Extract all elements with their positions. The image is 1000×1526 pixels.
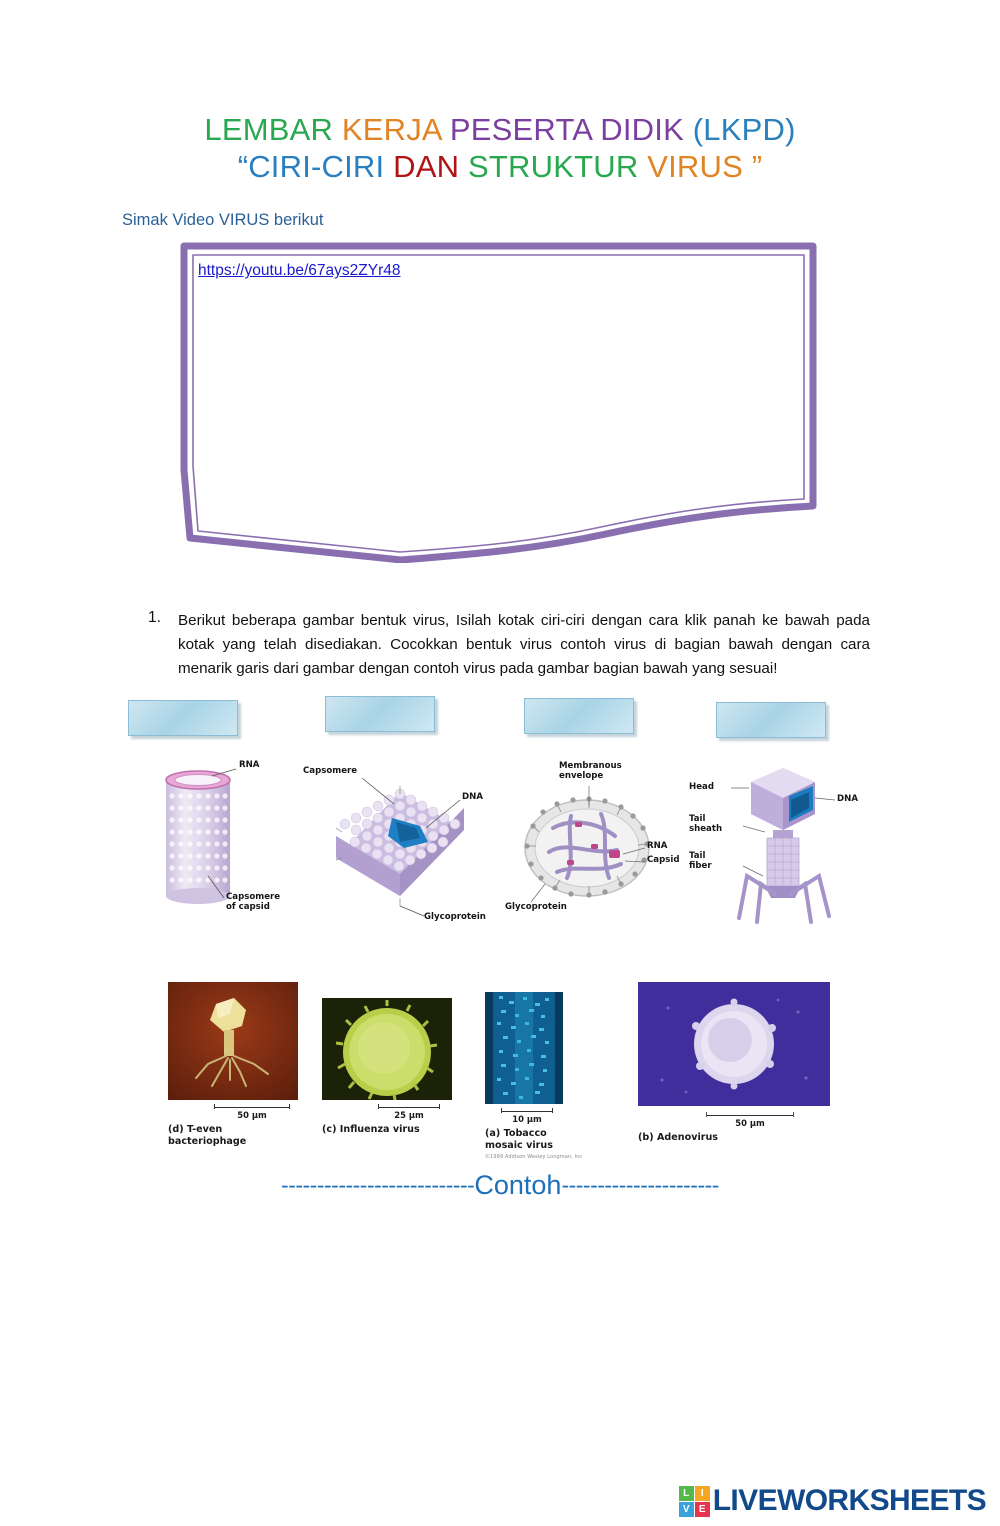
- dropdown-answer-row: [0, 696, 1000, 742]
- logo-letter-e: E: [695, 1502, 710, 1517]
- scale-label: 50 µm: [237, 1110, 266, 1120]
- micrograph-t-even-bacteriophage[interactable]: 50 µm (d) T-even bacteriophage: [168, 982, 298, 1147]
- dropdown-3[interactable]: [524, 698, 634, 734]
- diagram-label-dna: DNA: [837, 794, 858, 804]
- title-line-2: “CIRI-CIRI DAN STRUKTUR VIRUS ”: [0, 149, 1000, 186]
- title-line-1: LEMBAR KERJA PESERTA DIDIK (LKPD): [0, 112, 1000, 149]
- diagram-label-head: Head: [689, 782, 714, 792]
- scale-bar-50um: 50 µm: [706, 1112, 794, 1128]
- scale-bar-25um: 25 µm: [378, 1104, 440, 1120]
- t-even-bacteriophage-image: [168, 982, 298, 1100]
- title-word-lkpd: (LKPD): [693, 112, 796, 147]
- title-word-virus: VIRUS ”: [647, 149, 762, 184]
- scale-bar-10um: 10 µm: [501, 1108, 553, 1124]
- divider-dashes-right: ----------------------: [561, 1172, 719, 1199]
- icosahedral-virus-diagram: Capsomere DNA Glycoprotein: [300, 756, 500, 931]
- scale-label: 10 µm: [512, 1114, 541, 1124]
- title-word-lembar: LEMBAR: [204, 112, 342, 147]
- divider-label: Contoh: [474, 1170, 561, 1201]
- page-title: LEMBAR KERJA PESERTA DIDIK (LKPD) “CIRI-…: [0, 112, 1000, 185]
- diagram-label-rna: RNA: [239, 760, 259, 770]
- helical-virus-diagram: RNA Capsomere of capsid: [150, 756, 320, 931]
- micrograph-caption: (c) Influenza virus: [322, 1124, 452, 1136]
- micrograph-caption: (d) T-even bacteriophage: [168, 1124, 298, 1147]
- diagram-label-glycoprotein: Glycoprotein: [424, 912, 486, 922]
- title-word-kerja: KERJA: [342, 112, 450, 147]
- micrograph-copyright: ©1999 Addison Wesley Longman, Inc: [485, 1154, 582, 1160]
- logo-letter-l: L: [679, 1486, 694, 1501]
- diagram-label-dna: DNA: [462, 792, 483, 802]
- diagram-label-tail-fiber: Tail fiber: [689, 851, 712, 871]
- logo-letter-i: I: [695, 1486, 710, 1501]
- scale-label: 50 µm: [735, 1118, 764, 1128]
- diagram-label-capsomere: Capsomere: [303, 766, 357, 776]
- virus-structure-diagrams: RNA Capsomere of capsid: [0, 756, 1000, 934]
- bacteriophage-art: [705, 756, 875, 931]
- contoh-divider: --------------------------- Contoh -----…: [0, 1170, 1000, 1201]
- liveworksheets-brand-text: LIVEWORKSHEETS: [713, 1484, 986, 1518]
- dropdown-1[interactable]: [128, 700, 238, 736]
- enveloped-virus-diagram: Membranous envelope RNA Capsid Glycoprot…: [505, 756, 700, 931]
- scale-bar-50um: 50 µm: [214, 1104, 290, 1120]
- dropdown-4[interactable]: [716, 702, 826, 738]
- bacteriophage-diagram: Head Tail sheath Tail fiber DNA: [705, 756, 875, 931]
- video-link[interactable]: https://youtu.be/67ays2ZYr48: [198, 262, 400, 280]
- question-text: Berikut beberapa gambar bentuk virus, Is…: [178, 609, 870, 680]
- micrograph-caption: (a) Tobacco mosaic virus: [485, 1128, 582, 1151]
- virus-micrograph-examples: 50 µm (d) T-even bacteriophage 25 µm: [0, 976, 1000, 1156]
- title-word-peserta-didik: PESERTA DIDIK: [450, 112, 693, 147]
- scale-label: 25 µm: [394, 1110, 423, 1120]
- influenza-virus-image: [322, 998, 452, 1100]
- diagram-label-capsid: Capsid: [647, 855, 679, 865]
- logo-letter-v: V: [679, 1502, 694, 1517]
- diagram-label-rna: RNA: [647, 841, 667, 851]
- liveworksheets-logo[interactable]: L I V E LIVEWORKSHEETS: [679, 1484, 986, 1518]
- title-word-dan: DAN: [393, 149, 468, 184]
- question-number: 1.: [148, 609, 178, 680]
- icosahedral-virus-art: [300, 756, 500, 931]
- title-word-struktur: STRUKTUR: [468, 149, 647, 184]
- diagram-label-glycoprotein: Glycoprotein: [505, 902, 567, 912]
- liveworksheets-logo-icon: L I V E: [679, 1486, 710, 1517]
- micrograph-caption: (b) Adenovirus: [638, 1132, 830, 1144]
- divider-dashes-left: ---------------------------: [281, 1172, 474, 1199]
- tobacco-mosaic-virus-image: [485, 992, 563, 1104]
- video-instruction-label: Simak Video VIRUS berikut: [122, 211, 1000, 230]
- title-word-ciri-ciri: “CIRI-CIRI: [238, 149, 393, 184]
- dropdown-2[interactable]: [325, 696, 435, 732]
- adenovirus-image: [638, 982, 830, 1106]
- question-1: 1. Berikut beberapa gambar bentuk virus,…: [148, 609, 870, 680]
- diagram-label-membranous-envelope: Membranous envelope: [559, 761, 622, 781]
- micrograph-influenza-virus[interactable]: 25 µm (c) Influenza virus: [322, 998, 452, 1136]
- torn-frame-border: [176, 238, 821, 563]
- video-embed-frame: https://youtu.be/67ays2ZYr48: [176, 238, 821, 563]
- micrograph-adenovirus[interactable]: 50 µm (b) Adenovirus: [638, 982, 830, 1144]
- diagram-label-capsomere-of-capsid: Capsomere of capsid: [226, 892, 280, 912]
- micrograph-tobacco-mosaic-virus[interactable]: 10 µm (a) Tobacco mosaic virus ©1999 Add…: [485, 992, 582, 1160]
- diagram-label-tail-sheath: Tail sheath: [689, 814, 722, 834]
